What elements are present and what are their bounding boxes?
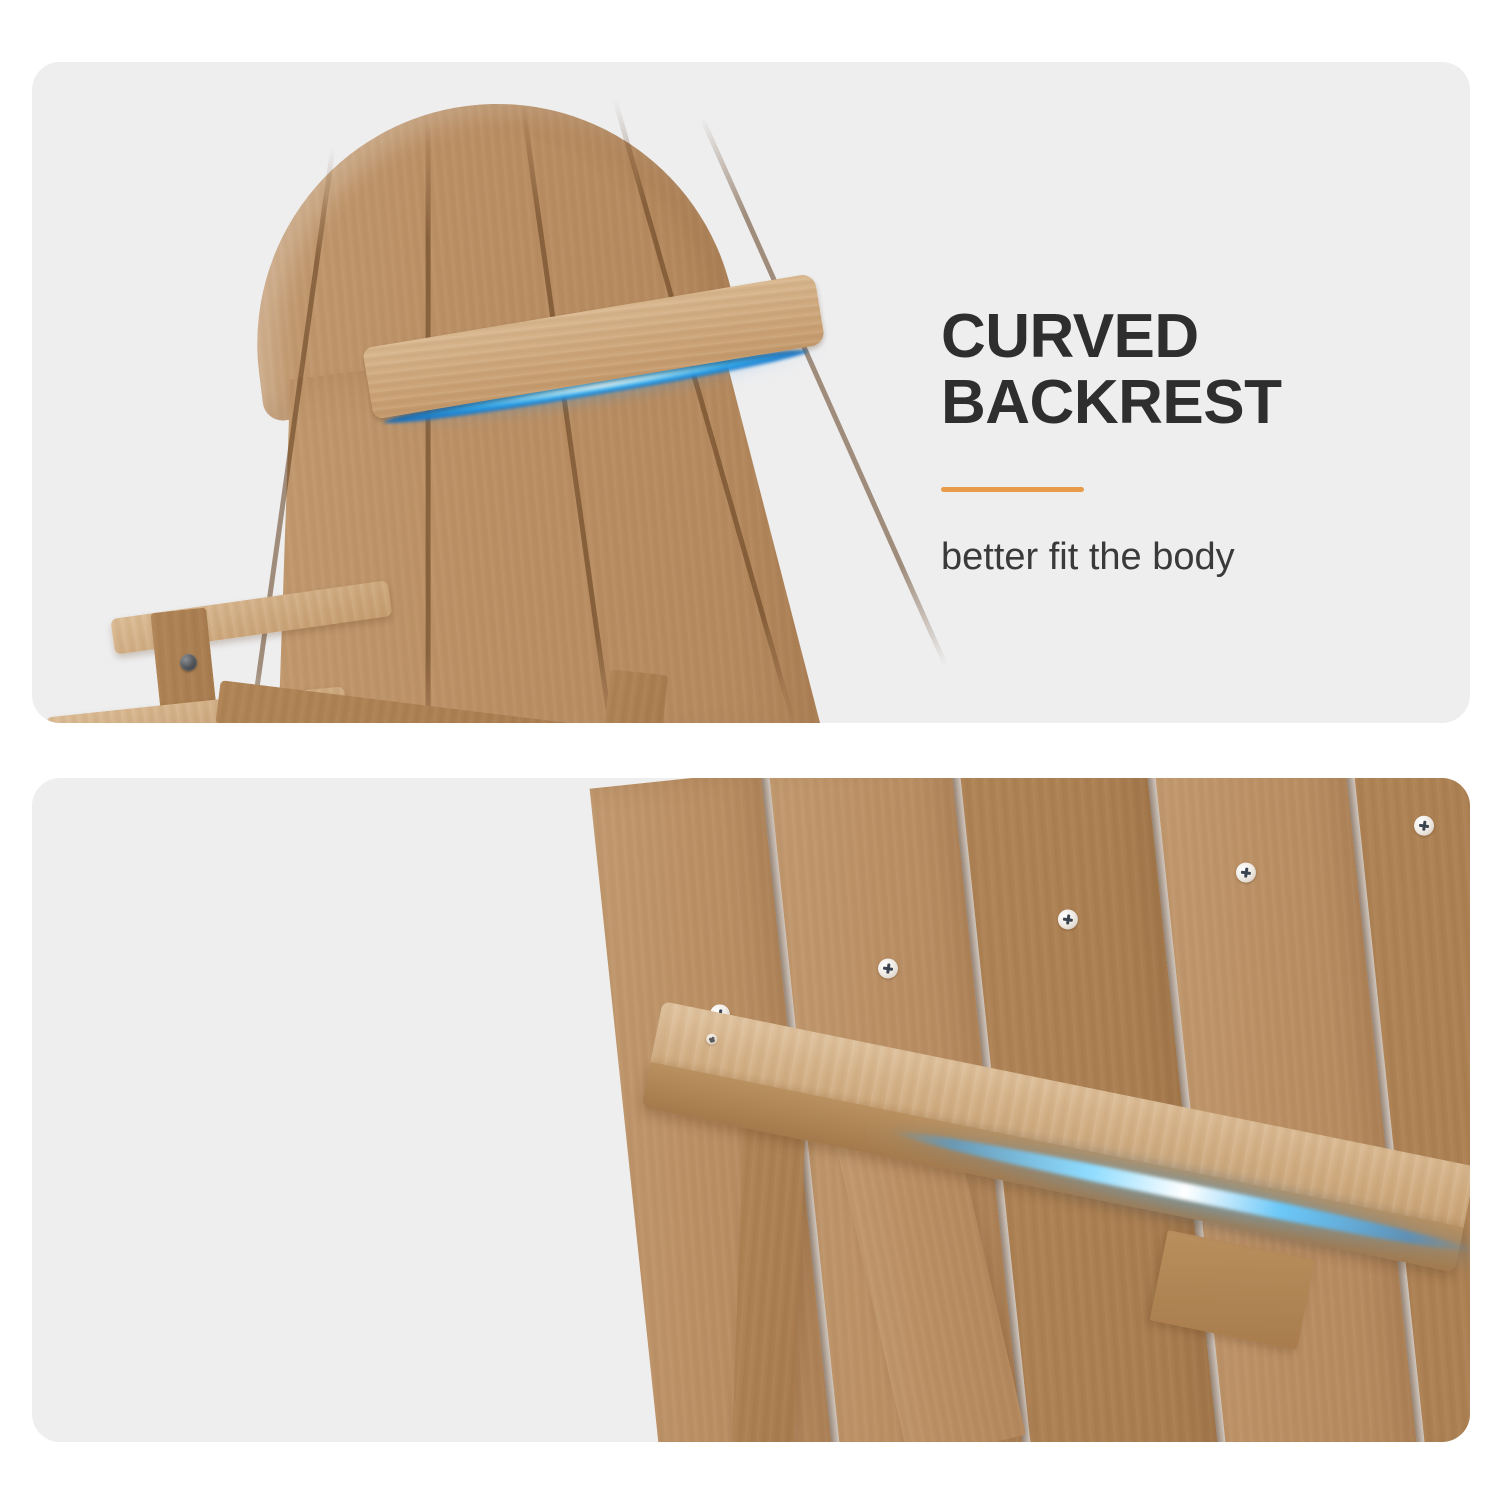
chair-armrest-photo: [32, 778, 1470, 1442]
chair-backrest-photo: [32, 62, 932, 723]
headline-curved-backrest: CURVED BACKREST: [941, 304, 1461, 437]
chair-front-leg: [732, 1107, 806, 1442]
armrest-bolt: [180, 654, 197, 671]
copy-block-curved-backrest: CURVED BACKREST better fit the body: [941, 304, 1461, 579]
product-feature-page: CURVED BACKREST better fit the body: [0, 0, 1500, 1500]
subline-curved-backrest: better fit the body: [941, 536, 1461, 579]
accent-divider: [941, 487, 1084, 492]
feature-panel-curved-backrest: CURVED BACKREST better fit the body: [32, 62, 1470, 723]
feature-panel-wide-armrests: WIDE ARMRESTS for better arm relaxation: [32, 778, 1470, 1442]
